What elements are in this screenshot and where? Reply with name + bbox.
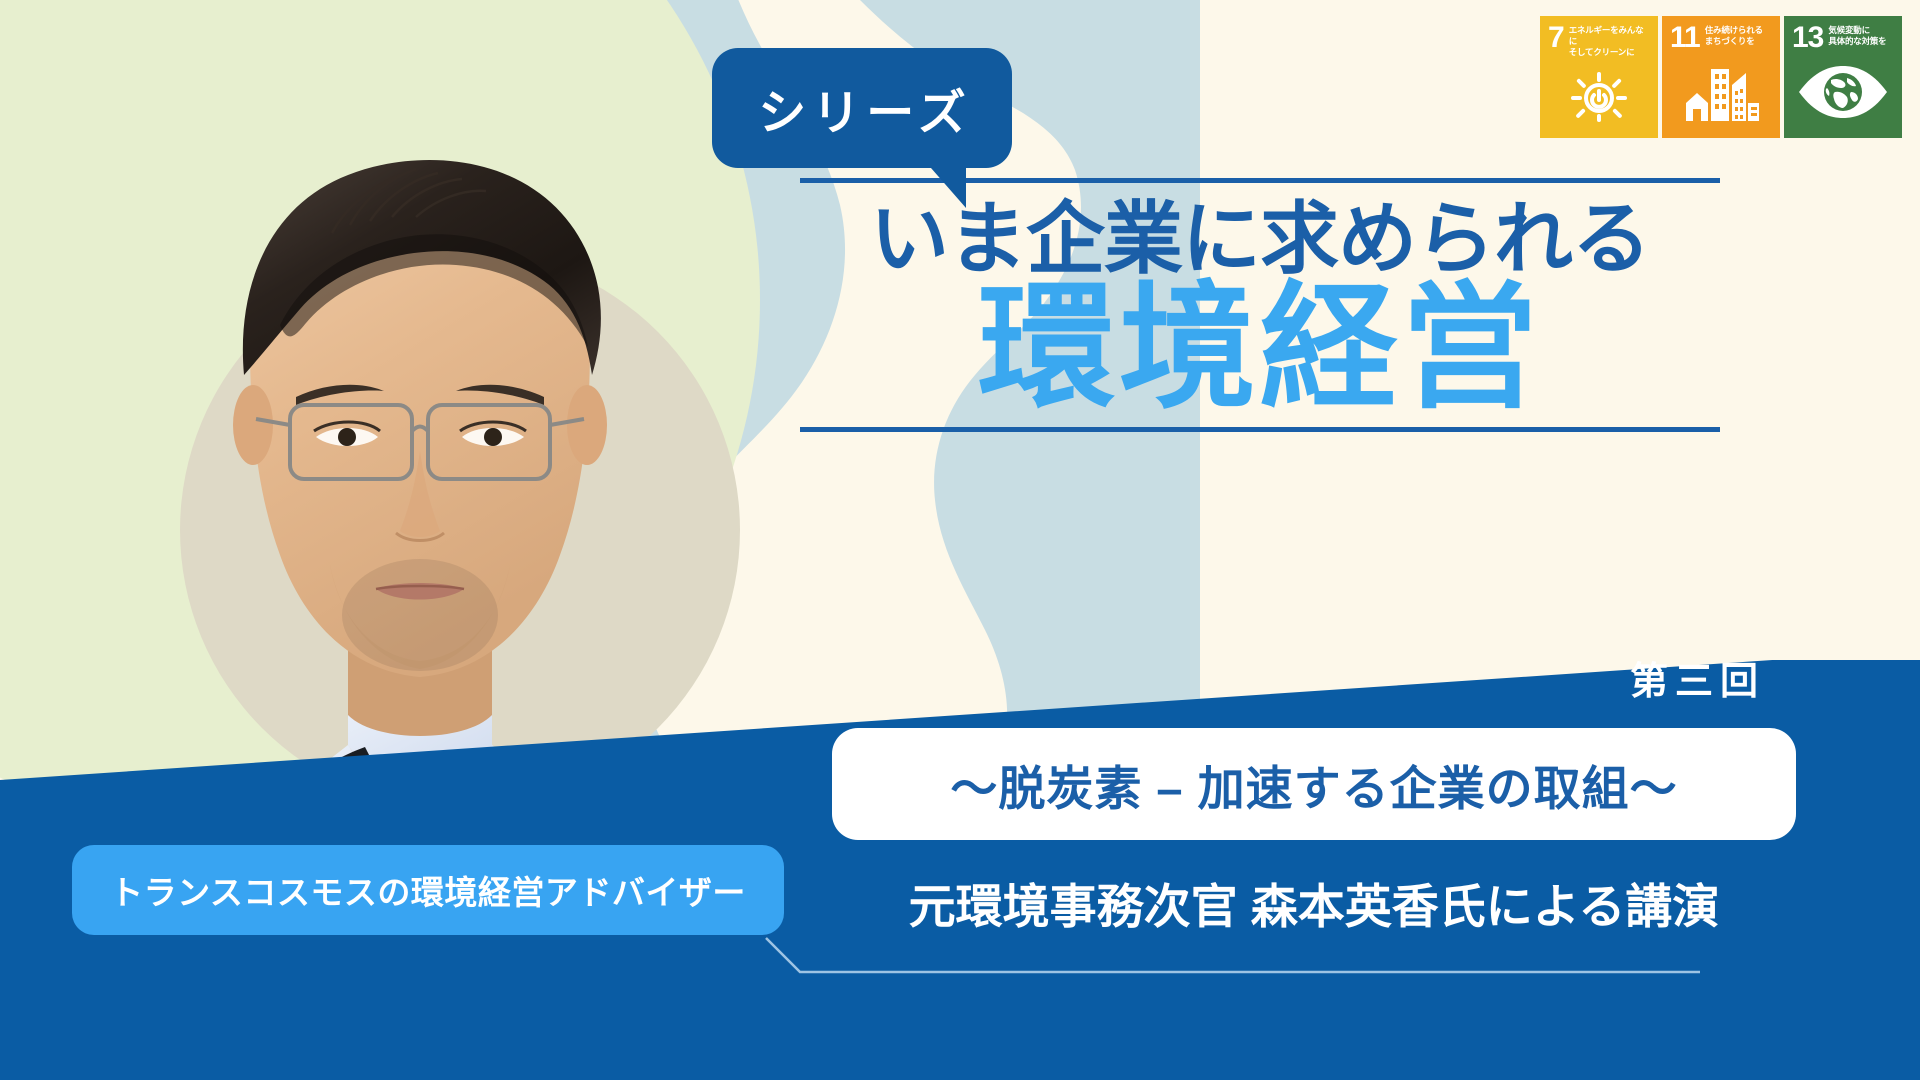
- sdg-badge-11-label: 住み続けられる まちづくりを: [1705, 25, 1763, 47]
- sdg-badge-13-number: 13: [1792, 25, 1823, 51]
- sdg-badge-7-header: 7 エネルギーをみんなに そしてクリーンに: [1540, 16, 1658, 58]
- headline-block: いま企業に求められる 環境経営: [800, 178, 1720, 432]
- advisor-badge-label: トランスコスモスの環境経営アドバイザー: [110, 866, 746, 914]
- sun-power-icon: [1540, 58, 1658, 138]
- sdg-badge-11-header: 11 住み続けられる まちづくりを: [1662, 16, 1780, 51]
- page-title: 環境経営: [800, 277, 1720, 421]
- sdg-badge-13-header: 13 気候変動に 具体的な対策を: [1784, 16, 1902, 51]
- episode-label: 第三回: [1630, 650, 1765, 705]
- sdg-badge-row: 7 エネルギーをみんなに そしてクリーンに: [1540, 16, 1902, 138]
- sdg-badge-13-label: 気候変動に 具体的な対策を: [1828, 25, 1886, 47]
- headline-rule-bottom: [800, 427, 1720, 432]
- advisor-badge: トランスコスモスの環境経営アドバイザー: [72, 845, 784, 935]
- sdg-badge-7-label: エネルギーをみんなに そしてクリーンに: [1569, 25, 1651, 58]
- banner-stage: 7 エネルギーをみんなに そしてクリーンに: [0, 0, 1920, 1080]
- series-badge: シリーズ: [712, 48, 1012, 168]
- sdg-badge-11-number: 11: [1670, 25, 1700, 51]
- sdg-badge-11: 11 住み続けられる まちづくりを: [1662, 16, 1780, 138]
- sdg-badge-7-number: 7: [1548, 25, 1564, 51]
- subtitle-pill: 〜脱炭素 – 加速する企業の取組〜: [832, 728, 1796, 840]
- series-badge-body: シリーズ: [712, 48, 1012, 168]
- speaker-label: 元環境事務次官 森本英香氏による講演: [832, 868, 1796, 937]
- series-badge-label: シリーズ: [752, 73, 972, 143]
- speech-bubble-icon: [920, 160, 990, 212]
- sdg-badge-7: 7 エネルギーをみんなに そしてクリーンに: [1540, 16, 1658, 138]
- subtitle-label: 〜脱炭素 – 加速する企業の取組〜: [950, 750, 1677, 819]
- sdg-badge-13: 13 気候変動に 具体的な対策を: [1784, 16, 1902, 138]
- city-buildings-icon: [1662, 51, 1780, 139]
- eye-globe-icon: [1784, 51, 1902, 139]
